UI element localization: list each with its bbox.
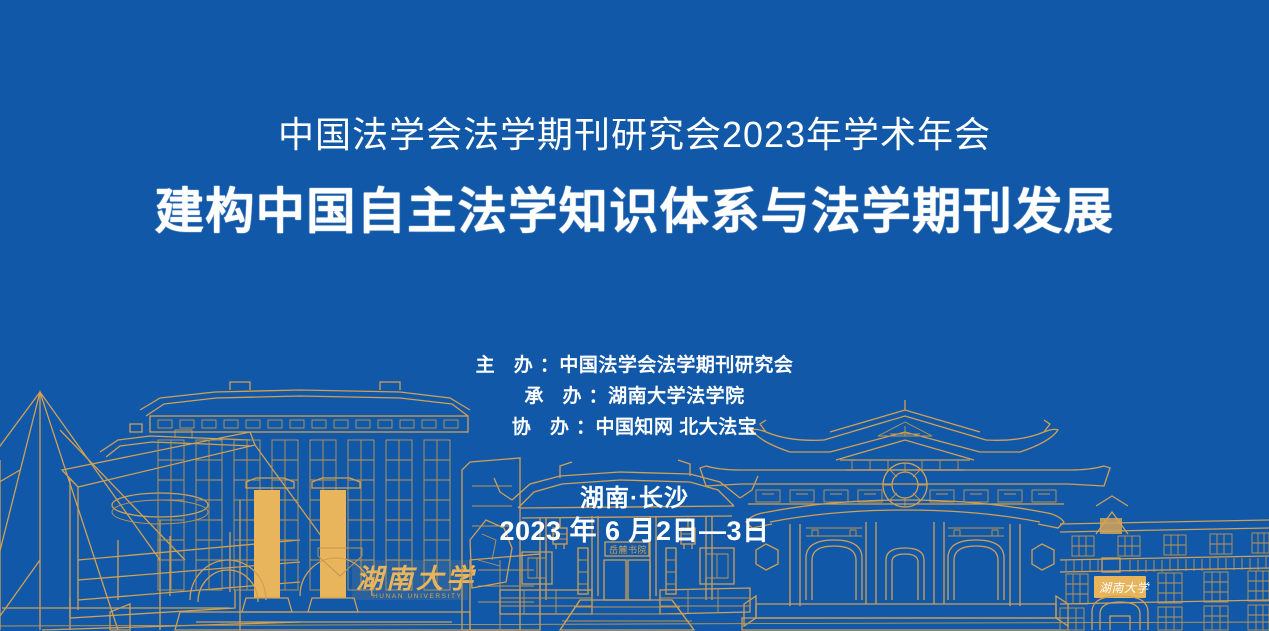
- organizer-row-undertaker: 承 办：湖南大学法学院: [0, 381, 1269, 412]
- event-date: 2023 年 6 月2日—3日: [0, 509, 1269, 548]
- organizer-value-undertaker: 湖南大学法学院: [608, 386, 745, 407]
- organizer-sep-coorganizer: ：: [576, 417, 596, 438]
- organizer-row-host: 主 办：中国法学会法学期刊研究会: [0, 350, 1269, 381]
- organizer-sep-undertaker: ：: [589, 386, 609, 407]
- event-location: 湖南·长沙: [0, 478, 1269, 513]
- organizer-row-coorganizer: 协 办：中国知网 北大法宝: [0, 412, 1269, 443]
- organizer-block: 主 办：中国法学会法学期刊研究会 承 办：湖南大学法学院 协 办：中国知网 北大…: [0, 350, 1269, 443]
- organizer-value-host: 中国法学会法学期刊研究会: [559, 355, 793, 376]
- organizer-value-coorganizer: 中国知网 北大法宝: [596, 417, 758, 438]
- organizer-sep-host: ：: [540, 355, 560, 376]
- page-title: 建构中国自主法学知识体系与法学期刊发展: [0, 180, 1269, 244]
- conference-poster: .ln{fill:none;stroke:#D0A055;stroke-widt…: [0, 0, 1269, 631]
- organizer-label-host: 主 办: [476, 355, 540, 376]
- organizer-label-coorganizer: 协 办: [512, 417, 576, 438]
- event-subtitle: 中国法学会法学期刊研究会2023年学术年会: [0, 112, 1269, 158]
- text-layer: 中国法学会法学期刊研究会2023年学术年会 建构中国自主法学知识体系与法学期刊发…: [0, 0, 1269, 631]
- organizer-label-undertaker: 承 办: [524, 386, 588, 407]
